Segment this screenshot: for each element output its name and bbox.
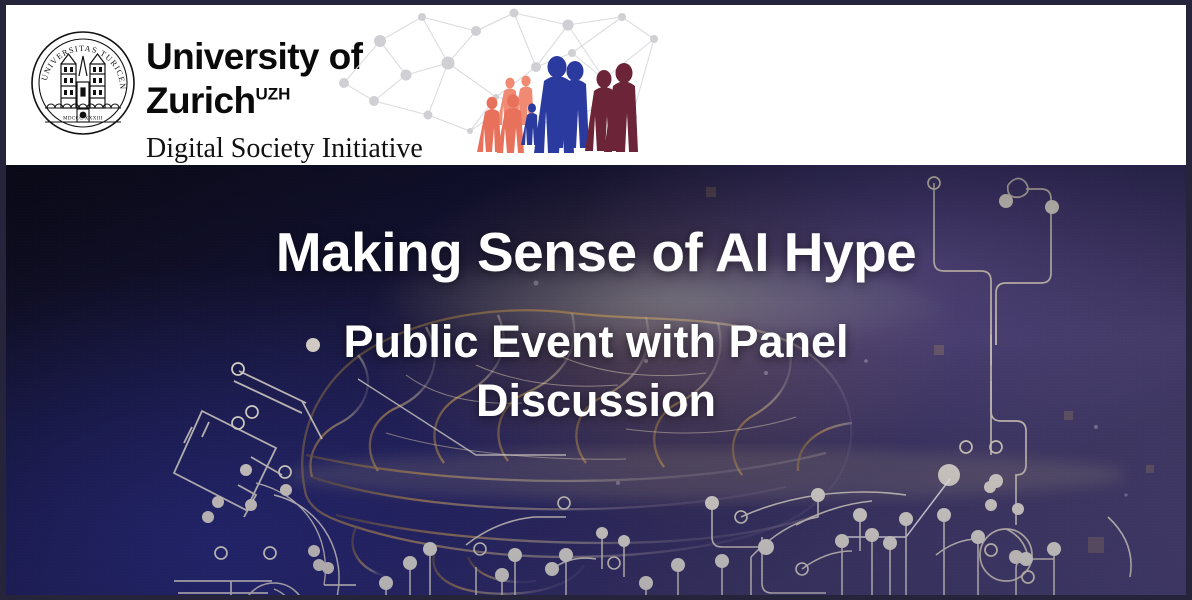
wordmark-line-1: University of [146,38,362,75]
event-banner-page: UNIVERSITAS TURICENSIS [0,0,1192,600]
circuit-traces-right [934,178,1051,581]
network-graph-icon [336,5,666,165]
wordmark-line-2: ZurichUZH [146,82,362,119]
uzh-wordmark: University of ZurichUZH [146,38,362,119]
brand-header: UNIVERSITAS TURICENSIS [6,5,1186,165]
wordmark-superscript: UZH [255,85,290,104]
hero-background-illustration [6,165,1186,595]
hero-banner: Making Sense of AI Hype Public Event wit… [6,165,1186,595]
uzh-seal-icon: UNIVERSITAS TURICENSIS [30,30,136,136]
svg-text:MDCCC XXXIII: MDCCC XXXIII [63,117,103,122]
